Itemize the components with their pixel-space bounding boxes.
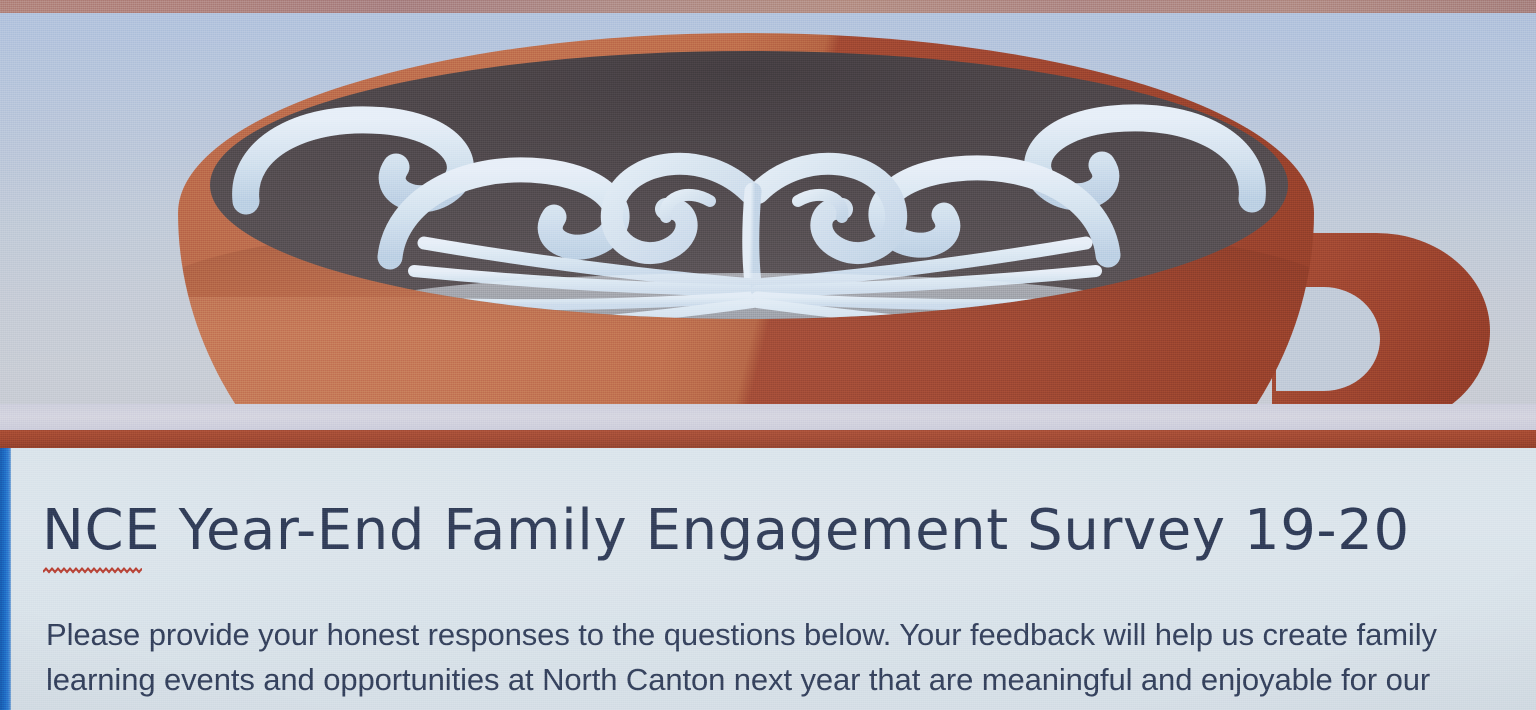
- form-accent-stripe: [0, 448, 11, 710]
- section-divider-bar: [0, 430, 1536, 449]
- latte-art-heart-icon: [210, 51, 1288, 319]
- form-description[interactable]: Please provide your honest responses to …: [46, 612, 1524, 710]
- top-content-bleed: [0, 0, 1536, 13]
- spellcheck-underline-icon: [43, 567, 142, 574]
- form-header-image[interactable]: [0, 11, 1536, 406]
- page-title[interactable]: NCE Year-End Family Engagement Survey 19…: [42, 503, 1442, 559]
- image-card-gap: [0, 404, 1536, 431]
- screenshot-stage: NCE Year-End Family Engagement Survey 19…: [0, 0, 1536, 710]
- coffee-surface: [210, 51, 1288, 319]
